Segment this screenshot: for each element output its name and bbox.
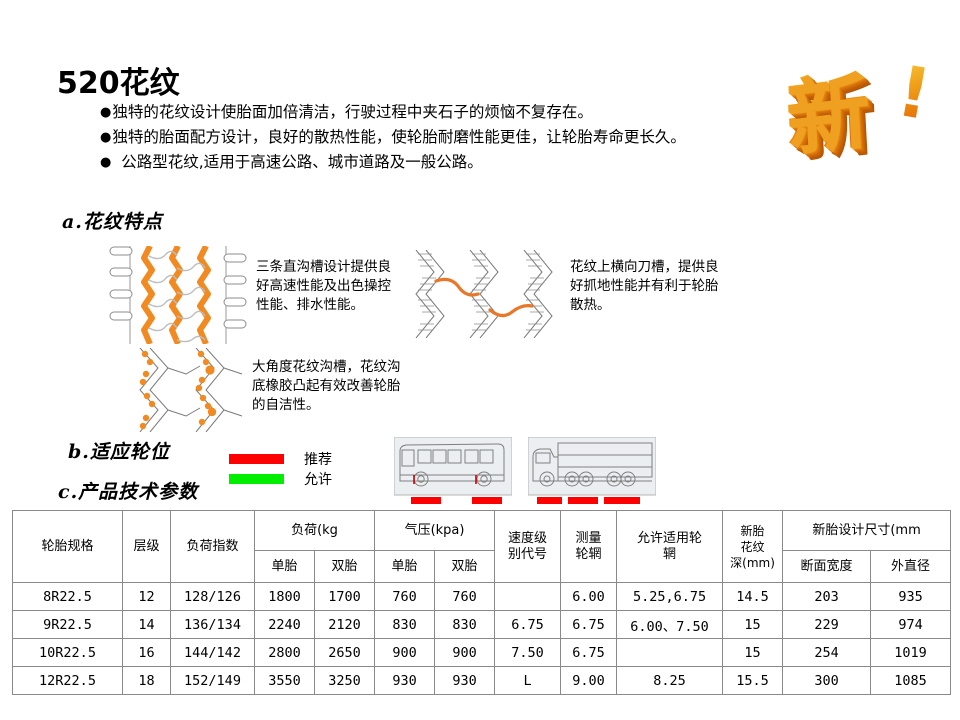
cell-ply: 12: [123, 583, 171, 611]
th-outer-diameter: 外直径: [871, 551, 951, 583]
cell-spec: 10R22.5: [13, 639, 123, 667]
th-tread-depth: 新胎 花纹 深(mm): [723, 511, 783, 583]
cell-tread-depth: 15: [723, 611, 783, 639]
legend-item-recommended: 推荐: [229, 449, 332, 469]
cell-press-single: 760: [375, 583, 435, 611]
cell-measure-rim: 6.00: [561, 583, 617, 611]
cell-load-index: 152/149: [171, 667, 255, 695]
cell-measure-rim: 6.75: [561, 611, 617, 639]
section-label-a: a.花纹特点: [62, 207, 163, 234]
spec-table: 轮胎规格 层级 负荷指数 负荷(kg 气压(kpa) 速度级 别代号 测量 轮辋…: [12, 510, 951, 695]
position-legend: 推荐 允许: [229, 449, 332, 489]
th-load-group: 负荷(kg: [255, 511, 375, 551]
bullet-text: 独特的胎面配方设计，良好的散热性能，使轮胎耐磨性能更佳，让轮胎寿命更长久。: [112, 128, 686, 146]
cell-load-dual: 2650: [315, 639, 375, 667]
list-item: ●独特的花纹设计使胎面加倍清洁，行驶过程中夹石子的烦恼不复存在。: [100, 100, 800, 125]
new-badge: 新 !: [786, 42, 956, 164]
legend-label: 允许: [304, 469, 332, 489]
th-design-group: 新胎设计尺寸(mm: [783, 511, 951, 551]
cell-spec: 9R22.5: [13, 611, 123, 639]
bullet-text: 公路型花纹,适用于高速公路、城市道路及一般公路。: [116, 153, 482, 171]
cell-load-index: 144/142: [171, 639, 255, 667]
figure-note-straight-grooves: 三条直沟槽设计提供良好高速性能及出色操控性能、排水性能。: [256, 258, 396, 315]
bus-rear-axle-marker: [472, 497, 502, 504]
cell-spec: 8R22.5: [13, 583, 123, 611]
th-load-index: 负荷指数: [171, 511, 255, 583]
bullet-dot-icon: ●: [100, 105, 111, 120]
th-speed-code: 速度级 别代号: [495, 511, 561, 583]
bus-front-axle-marker: [411, 497, 441, 504]
vehicle-diagram-bus: [394, 437, 512, 507]
th-allowed-rim: 允许适用轮 辋: [617, 511, 723, 583]
bullet-dot-icon: ●: [100, 155, 111, 170]
cell-outer-diameter: 1019: [871, 639, 951, 667]
tread-figure-lateral-sipes: [408, 250, 570, 338]
page-title: 520花纹: [57, 58, 180, 102]
section-label-c: c.产品技术参数: [58, 477, 198, 504]
cell-speed-code: 6.75: [495, 611, 561, 639]
cell-tread-depth: 14.5: [723, 583, 783, 611]
legend-swatch-green-icon: [229, 474, 284, 484]
cell-load-single: 3550: [255, 667, 315, 695]
cell-ply: 18: [123, 667, 171, 695]
cell-allowed-rim: [617, 639, 723, 667]
table-row: 10R22.516144/142280026509009007.506.7515…: [13, 639, 951, 667]
cell-speed-code: L: [495, 667, 561, 695]
cell-section-width: 300: [783, 667, 871, 695]
legend-label: 推荐: [304, 449, 332, 469]
table-row: 8R22.512128/126180017007607606.005.25,6.…: [13, 583, 951, 611]
cell-section-width: 203: [783, 583, 871, 611]
list-item: ●独特的胎面配方设计，良好的散热性能，使轮胎耐磨性能更佳，让轮胎寿命更长久。: [100, 125, 800, 150]
cell-load-index: 128/126: [171, 583, 255, 611]
table-head: 轮胎规格 层级 负荷指数 负荷(kg 气压(kpa) 速度级 别代号 测量 轮辋…: [13, 511, 951, 583]
cell-press-dual: 930: [435, 667, 495, 695]
vehicle-diagram-truck: [528, 437, 656, 507]
cell-measure-rim: 9.00: [561, 667, 617, 695]
truck-rear-axle-marker: [604, 497, 640, 504]
th-pressure-group: 气压(kpa): [375, 511, 495, 551]
slide-page: 520花纹 新 ! ●独特的花纹设计使胎面加倍清洁，行驶过程中夹石子的烦恼不复存…: [0, 0, 960, 720]
cell-outer-diameter: 935: [871, 583, 951, 611]
cell-press-dual: 760: [435, 583, 495, 611]
figure-note-angled-grooves: 大角度花纹沟槽，花纹沟底橡胶凸起有效改善轮胎的自洁性。: [252, 358, 402, 415]
th-load-single: 单胎: [255, 551, 315, 583]
cell-allowed-rim: 6.00、7.50: [617, 611, 723, 639]
cell-load-single: 2800: [255, 639, 315, 667]
cell-press-single: 900: [375, 639, 435, 667]
th-press-dual: 双胎: [435, 551, 495, 583]
section-label-b: b.适应轮位: [68, 437, 170, 464]
feature-bullet-list: ●独特的花纹设计使胎面加倍清洁，行驶过程中夹石子的烦恼不复存在。 ●独特的胎面配…: [100, 100, 800, 175]
cell-ply: 16: [123, 639, 171, 667]
cell-tread-depth: 15: [723, 639, 783, 667]
tread-figure-angled-grooves: [138, 348, 250, 432]
cell-press-single: 930: [375, 667, 435, 695]
th-load-dual: 双胎: [315, 551, 375, 583]
cell-allowed-rim: 8.25: [617, 667, 723, 695]
cell-tread-depth: 15.5: [723, 667, 783, 695]
th-spec: 轮胎规格: [13, 511, 123, 583]
legend-item-allowed: 允许: [229, 469, 332, 489]
tread-figure-straight-grooves: [108, 246, 250, 344]
table-row: 9R22.514136/134224021208308306.756.756.0…: [13, 611, 951, 639]
cell-load-index: 136/134: [171, 611, 255, 639]
th-ply: 层级: [123, 511, 171, 583]
legend-swatch-red-icon: [229, 454, 284, 464]
table-header-row-top: 轮胎规格 层级 负荷指数 负荷(kg 气压(kpa) 速度级 别代号 测量 轮辋…: [13, 511, 951, 551]
cell-load-single: 2240: [255, 611, 315, 639]
bullet-text: 独特的花纹设计使胎面加倍清洁，行驶过程中夹石子的烦恼不复存在。: [112, 103, 593, 121]
cell-section-width: 254: [783, 639, 871, 667]
table-row: 12R22.518152/14935503250930930L9.008.251…: [13, 667, 951, 695]
cell-outer-diameter: 1085: [871, 667, 951, 695]
truck-steer-axle-marker: [537, 497, 562, 504]
cell-spec: 12R22.5: [13, 667, 123, 695]
table-body: 8R22.512128/126180017007607606.005.25,6.…: [13, 583, 951, 695]
cell-load-single: 1800: [255, 583, 315, 611]
list-item: ● 公路型花纹,适用于高速公路、城市道路及一般公路。: [100, 150, 800, 175]
cell-allowed-rim: 5.25,6.75: [617, 583, 723, 611]
cell-load-dual: 1700: [315, 583, 375, 611]
cell-section-width: 229: [783, 611, 871, 639]
truck-mid-axle-marker: [568, 497, 598, 504]
cell-load-dual: 2120: [315, 611, 375, 639]
exclamation-glyph: !: [891, 50, 937, 136]
cell-measure-rim: 6.75: [561, 639, 617, 667]
th-section-width: 断面宽度: [783, 551, 871, 583]
cell-speed-code: [495, 583, 561, 611]
cell-press-single: 830: [375, 611, 435, 639]
cell-ply: 14: [123, 611, 171, 639]
th-press-single: 单胎: [375, 551, 435, 583]
bullet-dot-icon: ●: [100, 130, 111, 145]
cell-press-dual: 900: [435, 639, 495, 667]
figure-note-lateral-sipes: 花纹上横向刀槽，提供良好抓地性能并有利于轮胎散热。: [570, 258, 730, 315]
cell-speed-code: 7.50: [495, 639, 561, 667]
cell-press-dual: 830: [435, 611, 495, 639]
cell-outer-diameter: 974: [871, 611, 951, 639]
th-measure-rim: 测量 轮辋: [561, 511, 617, 583]
cell-load-dual: 3250: [315, 667, 375, 695]
